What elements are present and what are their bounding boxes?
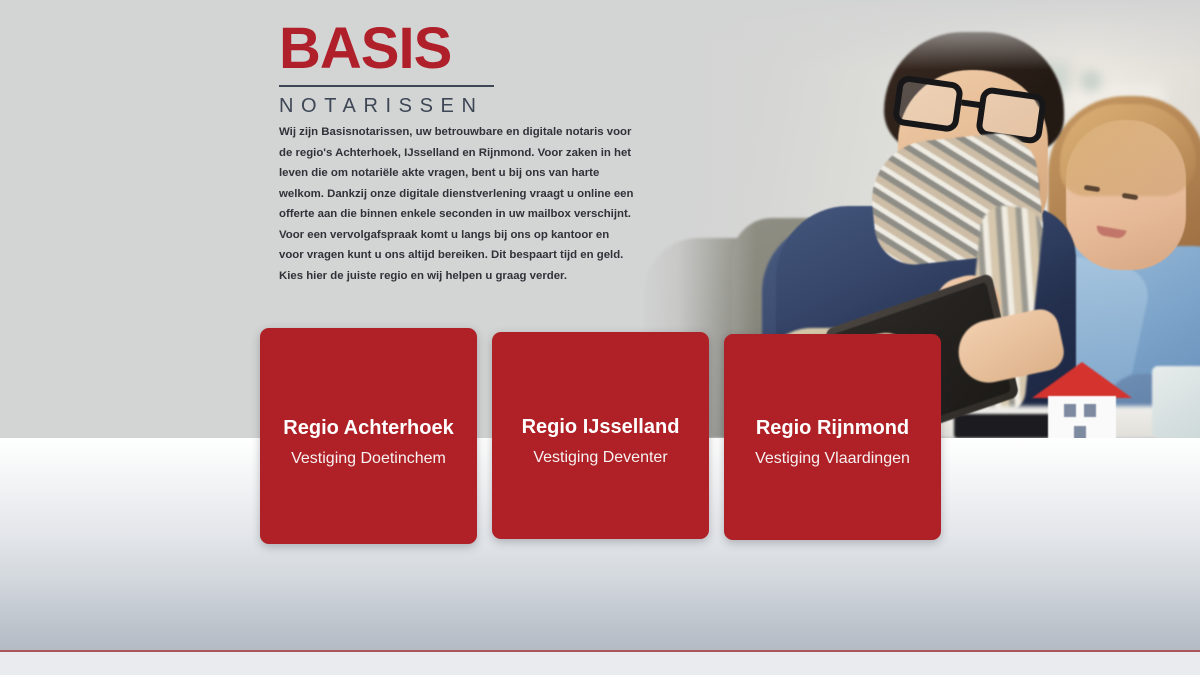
region-card-rijnmond[interactable]: Regio Rijnmond Vestiging Vlaardingen — [724, 334, 941, 540]
logo-wordmark: BASIS — [279, 20, 494, 78]
logo-subtitle: NOTARISSEN — [279, 96, 494, 116]
photo-woman-fringe — [1060, 104, 1196, 196]
brand-logo[interactable]: BASIS NOTARISSEN — [279, 20, 494, 116]
logo-divider — [279, 85, 494, 87]
region-card-achterhoek[interactable]: Regio Achterhoek Vestiging Doetinchem — [260, 328, 477, 544]
intro-paragraph: Wij zijn Basisnotarissen, uw betrouwbare… — [279, 122, 637, 286]
footer-strip — [0, 652, 1200, 675]
region-card-subtitle: Vestiging Doetinchem — [283, 448, 453, 470]
region-card-ijsselland[interactable]: Regio IJsselland Vestiging Deventer — [492, 332, 709, 539]
page-stage: BASIS NOTARISSEN Wij zijn Basisnotarisse… — [0, 0, 1200, 675]
region-card-subtitle: Vestiging Deventer — [522, 447, 680, 469]
region-card-subtitle: Vestiging Vlaardingen — [755, 448, 910, 470]
photo-model-house — [1032, 362, 1132, 438]
photo-bowl — [1080, 70, 1102, 92]
region-card-title: Regio IJsselland — [522, 413, 680, 441]
photo-mug — [1152, 366, 1200, 438]
region-card-title: Regio Rijnmond — [755, 414, 910, 442]
region-card-title: Regio Achterhoek — [283, 414, 453, 442]
